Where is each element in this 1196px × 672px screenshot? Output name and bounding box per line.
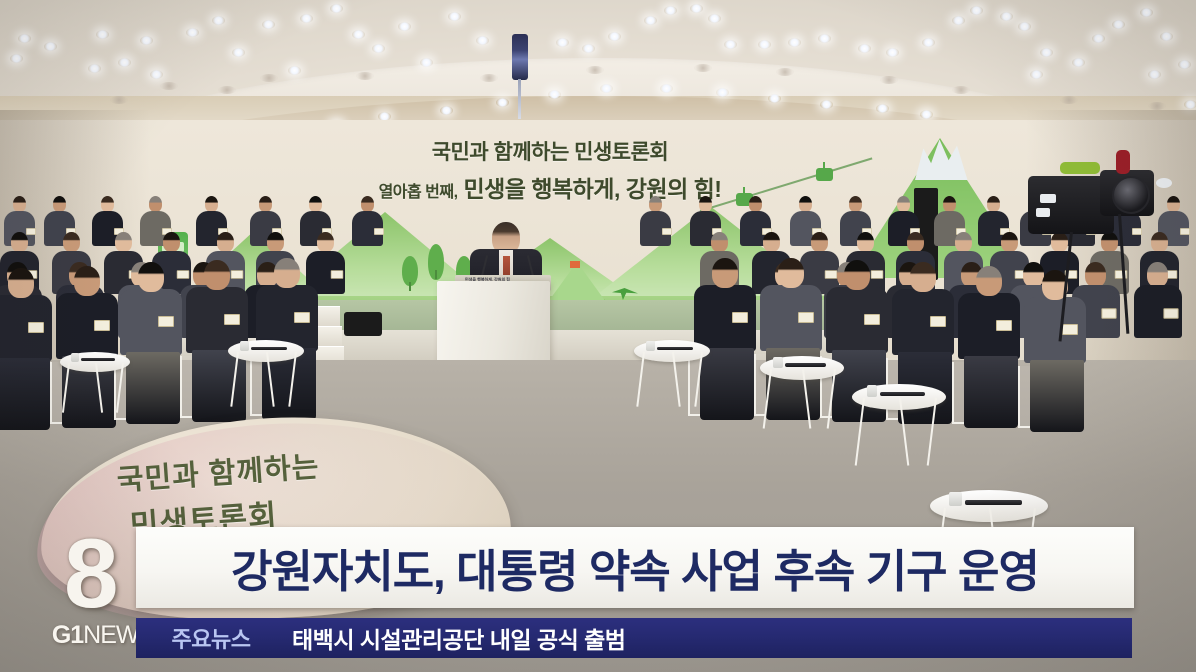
ceiling-light xyxy=(724,40,737,49)
ceiling-light xyxy=(922,38,935,47)
ceiling-light xyxy=(352,30,365,39)
ceiling-light xyxy=(150,70,163,79)
gondola-icon xyxy=(816,168,833,181)
ceiling-light xyxy=(818,34,831,43)
side-table-leg xyxy=(855,398,865,465)
ceiling-light xyxy=(186,28,199,37)
ceiling-vent xyxy=(952,86,970,94)
ceiling-light xyxy=(644,16,657,25)
ceiling-light xyxy=(420,58,433,67)
ceiling-light xyxy=(1018,22,1031,31)
headline-text: 강원자치도, 대통령 약속 사업 후속 기구 운영 xyxy=(136,535,1134,600)
side-table-leg xyxy=(763,369,772,429)
ceiling-light xyxy=(96,30,109,39)
ceiling-light xyxy=(608,32,621,41)
broadcast-screen: 국민과 함께하는 민생토론회 열아홉 번째, 민생을 행복하게, 강원의 힘! xyxy=(0,0,1196,672)
handheld-microphone xyxy=(81,358,115,361)
person-legs xyxy=(964,356,1018,428)
ceiling-light xyxy=(440,106,453,115)
person-head xyxy=(799,196,813,212)
person-head xyxy=(699,196,713,212)
ceiling-light xyxy=(496,98,509,107)
ceiling-light xyxy=(330,4,343,13)
ceiling-light xyxy=(1030,70,1043,79)
name-badge xyxy=(662,228,672,235)
backdrop-title-line1: 국민과 함께하는 민생토론회 xyxy=(330,136,770,166)
person-head xyxy=(149,196,163,212)
ceiling-vent xyxy=(694,64,712,72)
ceiling-light xyxy=(788,38,801,47)
ceiling-vent xyxy=(776,68,794,76)
ticker-headline: 태백시 시설관리공단 내일 공식 출범 xyxy=(292,621,625,655)
ticker-label: 주요뉴스 xyxy=(136,622,286,654)
person-head xyxy=(317,232,334,252)
side-table xyxy=(634,340,710,412)
side-table-leg xyxy=(827,369,836,429)
person-head xyxy=(763,232,780,252)
ceiling-light xyxy=(18,34,31,43)
ceiling-light xyxy=(44,42,57,51)
ceiling-light xyxy=(548,90,561,99)
person-head xyxy=(897,196,911,212)
side-table-leg xyxy=(636,352,645,407)
floor-monitor xyxy=(344,312,382,336)
ceiling-light xyxy=(970,6,983,15)
water-bottle xyxy=(867,385,877,397)
camera-channel-tag xyxy=(1040,194,1056,203)
side-table xyxy=(852,384,946,460)
name-badge xyxy=(864,314,880,325)
person-head xyxy=(11,232,28,252)
person-torso xyxy=(0,295,52,361)
person-head xyxy=(8,268,34,298)
ceiling-vent xyxy=(480,74,498,82)
person-head xyxy=(712,258,738,288)
water-bottle xyxy=(71,353,79,362)
person-head xyxy=(1001,232,1018,252)
ceiling-light xyxy=(858,44,871,53)
podium xyxy=(437,281,550,367)
side-table-leg xyxy=(288,352,297,407)
ceiling-light xyxy=(1160,32,1173,41)
side-table-leg xyxy=(694,352,703,407)
ceiling-light xyxy=(716,88,729,97)
ceiling-light xyxy=(118,58,131,67)
person-legs xyxy=(0,358,50,430)
ceiling-light xyxy=(600,84,613,93)
person-head xyxy=(1147,262,1168,287)
headline-banner: 강원자치도, 대통령 약속 사업 후속 기구 운영 xyxy=(136,527,1134,608)
ceiling-light xyxy=(768,94,781,103)
person-head xyxy=(138,262,164,292)
side-table-leg xyxy=(926,398,936,465)
person-head xyxy=(987,196,1001,212)
ceiling-light xyxy=(300,14,313,23)
camera-accessory xyxy=(1116,150,1130,174)
person-head xyxy=(361,196,375,212)
name-badge xyxy=(1101,308,1116,318)
name-badge xyxy=(1180,228,1190,235)
side-table-top xyxy=(930,490,1048,522)
ceiling-light xyxy=(448,12,461,21)
person-head xyxy=(649,196,663,212)
ceiling-vent xyxy=(1060,96,1078,104)
person-head xyxy=(115,232,132,252)
handheld-microphone xyxy=(880,392,925,396)
ceiling-light xyxy=(372,44,385,53)
person-head xyxy=(274,258,300,288)
news-ticker: 주요뉴스 태백시 시설관리공단 내일 공식 출범 xyxy=(136,618,1132,658)
ceiling-vent xyxy=(260,74,278,82)
name-badge xyxy=(26,228,36,235)
person-head xyxy=(53,196,67,212)
person-head xyxy=(910,262,936,292)
backdrop-event-title: 국민과 함께하는 민생토론회 열아홉 번째, 민생을 행복하게, 강원의 힘! xyxy=(330,136,770,204)
ceiling-light xyxy=(1148,70,1161,79)
tree-icon xyxy=(402,256,418,286)
ceiling-light xyxy=(708,14,721,23)
person-head xyxy=(811,232,828,252)
water-bottle xyxy=(240,341,248,351)
person-head xyxy=(205,196,219,212)
person-head xyxy=(1085,262,1106,287)
person-head xyxy=(749,196,763,212)
ceiling-light xyxy=(232,48,245,57)
person-head xyxy=(259,196,273,212)
person-head xyxy=(163,232,180,252)
handheld-microphone xyxy=(251,347,287,351)
side-table xyxy=(60,352,130,422)
ceiling-light xyxy=(920,110,933,119)
ceiling-light xyxy=(398,22,411,31)
name-badge xyxy=(1062,324,1078,335)
ceiling-light xyxy=(140,36,153,45)
ceiling-light xyxy=(1000,12,1013,21)
ceiling-light xyxy=(660,84,673,93)
ceiling-light xyxy=(288,66,301,75)
person-head xyxy=(711,232,728,252)
ceiling-light xyxy=(820,100,833,109)
snow-peak-icon xyxy=(908,136,978,180)
water-bottle xyxy=(949,492,962,506)
camera-channel-tag xyxy=(1036,208,1050,217)
person-head xyxy=(267,232,284,252)
person-head xyxy=(309,196,323,212)
ceiling-vent xyxy=(1148,102,1166,110)
handheld-microphone xyxy=(785,363,825,367)
ceiling-vent xyxy=(160,82,178,90)
ceiling-light xyxy=(1092,34,1105,43)
handheld-microphone xyxy=(965,500,1022,505)
ceiling-projector-mount xyxy=(512,34,528,80)
ceiling-light xyxy=(758,40,771,49)
name-badge xyxy=(331,271,343,280)
name-badge xyxy=(996,320,1012,331)
ceiling-light xyxy=(690,4,703,13)
person-head xyxy=(943,196,957,212)
name-badge xyxy=(177,271,189,280)
name-badge xyxy=(294,312,310,323)
ceiling-light xyxy=(476,36,489,45)
ceiling-vent xyxy=(356,72,374,80)
ceiling-light xyxy=(1040,48,1053,57)
name-badge xyxy=(374,228,384,235)
person-head xyxy=(778,258,804,288)
person-head xyxy=(1167,196,1181,212)
side-table xyxy=(228,340,304,412)
person-head xyxy=(844,260,870,290)
name-badge xyxy=(224,314,240,325)
camera-lens xyxy=(1112,176,1150,214)
ceiling-light xyxy=(556,38,569,47)
ceiling-light xyxy=(1184,100,1196,109)
person-head xyxy=(955,232,972,252)
backdrop-title-ordinal: 열아홉 번째, xyxy=(379,184,458,201)
backdrop-title-slogan: 민생을 행복하게, 강원의 힘! xyxy=(463,176,721,202)
person-head xyxy=(13,196,27,212)
ceiling-vent xyxy=(110,96,128,104)
name-badge xyxy=(158,316,174,327)
ceiling-light xyxy=(876,104,889,113)
side-table-leg xyxy=(115,363,123,413)
person-legs xyxy=(126,352,180,424)
tent-flag-icon xyxy=(570,261,580,268)
name-badge xyxy=(94,320,110,331)
handheld-microphone xyxy=(657,347,693,351)
ceiling-light xyxy=(1178,60,1191,69)
person-head xyxy=(204,260,230,290)
camera-channel-tag xyxy=(1156,178,1172,188)
name-badge xyxy=(871,271,883,280)
ceiling-light xyxy=(88,64,101,73)
name-badge xyxy=(798,312,814,323)
ceiling-vent xyxy=(880,76,898,84)
side-table xyxy=(760,356,844,430)
ceiling-light xyxy=(1072,58,1085,67)
ceiling-light xyxy=(952,16,965,25)
person-head xyxy=(976,266,1002,296)
name-badge xyxy=(231,271,243,280)
ceiling-light xyxy=(582,44,595,53)
water-bottle xyxy=(773,357,782,368)
person-head xyxy=(857,232,874,252)
ceiling-light xyxy=(664,6,677,15)
person-head xyxy=(217,232,234,252)
name-badge xyxy=(732,312,748,323)
ceiling-vent xyxy=(218,86,236,94)
water-bottle xyxy=(646,341,654,351)
ceiling-light xyxy=(886,48,899,57)
side-table-leg xyxy=(62,363,70,413)
ceiling-vent xyxy=(586,66,604,74)
person-head xyxy=(849,196,863,212)
name-badge xyxy=(825,271,837,280)
person-head xyxy=(74,266,100,296)
person-legs xyxy=(1030,360,1084,432)
ceiling-light xyxy=(10,54,23,63)
ceiling-light xyxy=(262,20,275,29)
ceiling-light xyxy=(1140,8,1153,17)
person-head xyxy=(1151,232,1168,252)
person-head xyxy=(101,196,115,212)
name-badge xyxy=(1132,228,1142,235)
person-head xyxy=(63,232,80,252)
tree-icon xyxy=(428,244,444,280)
name-badge xyxy=(930,316,946,327)
person-head xyxy=(907,232,924,252)
ceiling-light xyxy=(212,16,225,25)
name-badge xyxy=(1163,308,1178,318)
side-table-leg xyxy=(230,352,239,407)
name-badge xyxy=(28,322,44,333)
person-head xyxy=(1101,232,1118,252)
person-head xyxy=(1051,232,1068,252)
camera-handle xyxy=(1060,162,1100,174)
ceiling-light xyxy=(1112,20,1125,29)
